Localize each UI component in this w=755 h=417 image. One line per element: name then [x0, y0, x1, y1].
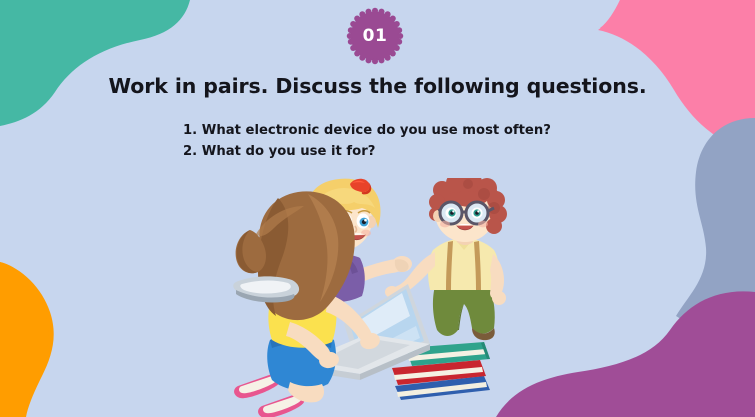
sneaker-shoe	[233, 276, 299, 302]
page-title: Work in pairs. Discuss the following que…	[0, 74, 755, 98]
illustration-three-kids-with-laptop	[232, 178, 522, 417]
question-list: 1. What electronic device do you use mos…	[183, 120, 703, 162]
step-number-text: 01	[346, 7, 404, 65]
slide: 01 Work in pairs. Discuss the following …	[0, 0, 755, 417]
step-number-badge: 01	[346, 7, 404, 65]
question-item-1: 1. What electronic device do you use mos…	[183, 120, 703, 141]
question-item-2: 2. What do you use it for?	[183, 141, 703, 162]
kids-illustration-graphic	[232, 178, 522, 417]
